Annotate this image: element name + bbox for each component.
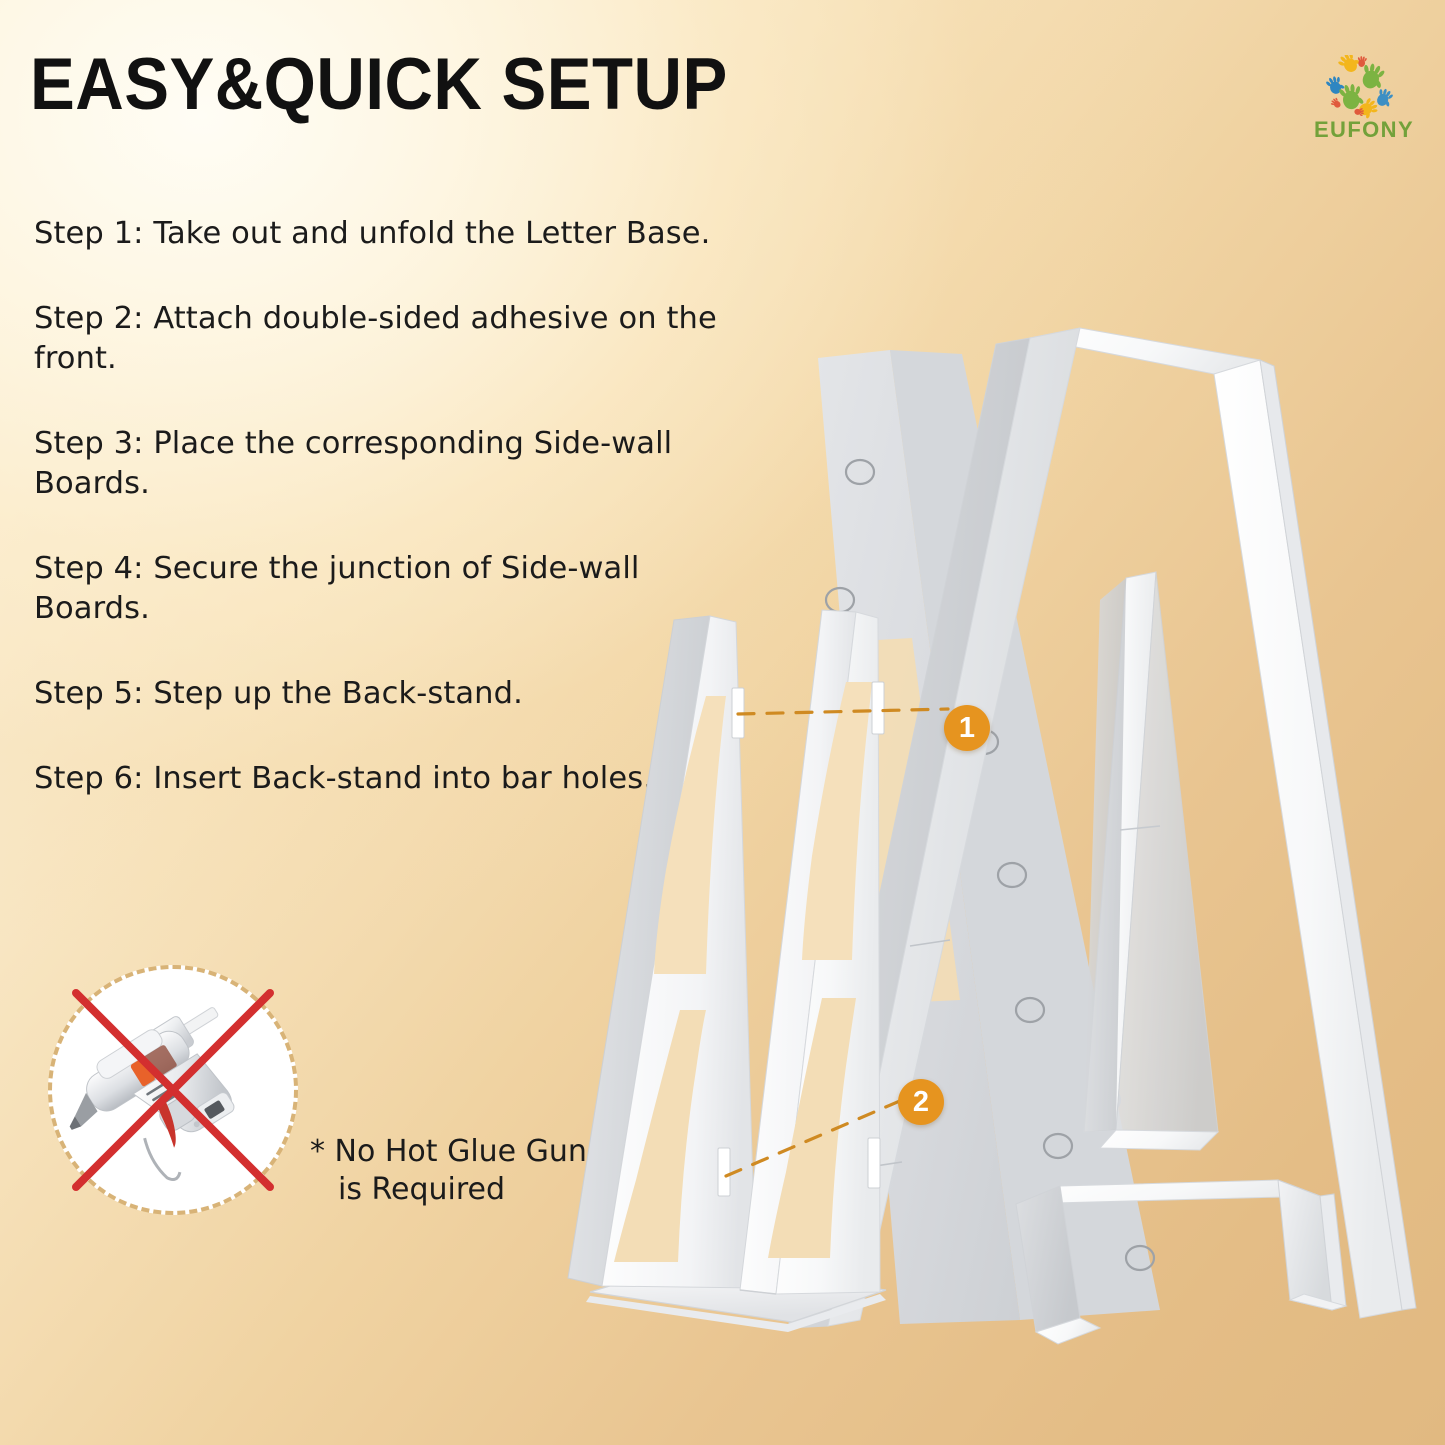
step-item-1: Step 1: Take out and unfold the Letter B… — [34, 214, 744, 254]
glue-gun-icon — [64, 981, 282, 1199]
no-glue-gun-badge: * No Hot Glue Gun is Required — [48, 965, 588, 1215]
back-stand-panels — [568, 610, 886, 1332]
product-illustration-marquee-letter-a — [560, 310, 1445, 1360]
page-title: EASY&QUICK SETUP — [30, 48, 728, 121]
brand-logo: EUFONY — [1305, 55, 1423, 155]
poster-canvas: EASY&QUICK SETUP — [0, 0, 1445, 1445]
no-glue-line-1: * No Hot Glue Gun — [310, 1134, 587, 1169]
callout-badge-1[interactable]: 1 — [944, 705, 990, 751]
handprints-circle-icon — [1319, 55, 1409, 123]
no-glue-gun-label: * No Hot Glue Gun is Required — [310, 1133, 588, 1209]
brand-name: EUFONY — [1305, 117, 1423, 143]
no-glue-line-2: is Required — [310, 1171, 588, 1209]
callout-badge-2[interactable]: 2 — [898, 1079, 944, 1125]
